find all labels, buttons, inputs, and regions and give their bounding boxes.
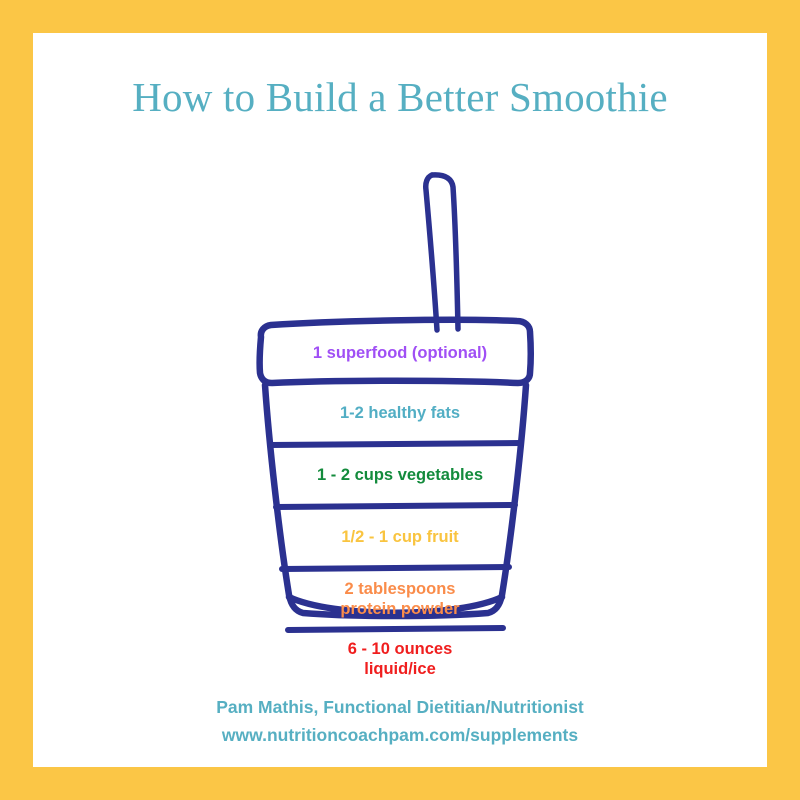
smoothie-cup-diagram: 1 superfood (optional) 1-2 healthy fats … (33, 133, 767, 653)
straw-icon (426, 175, 458, 330)
label-line: 1 superfood (optional) (230, 343, 570, 363)
page-title: How to Build a Better Smoothie (33, 73, 767, 121)
label-line: liquid/ice (230, 659, 570, 679)
cup-layer-label-protein: 2 tablespoons protein powder (230, 579, 570, 619)
footer-author: Pam Mathis, Functional Dietitian/Nutriti… (33, 693, 767, 721)
poster-frame: How to Build a Better Smoothie (0, 0, 800, 800)
label-line: protein powder (230, 599, 570, 619)
cup-layer-label-vegetables: 1 - 2 cups vegetables (230, 465, 570, 485)
cup-layer-label-superfood: 1 superfood (optional) (230, 343, 570, 363)
label-line: 2 tablespoons (230, 579, 570, 599)
label-line: 1 - 2 cups vegetables (230, 465, 570, 485)
label-line: 1/2 - 1 cup fruit (230, 527, 570, 547)
label-line: 1-2 healthy fats (230, 403, 570, 423)
cup-layer-label-fruit: 1/2 - 1 cup fruit (230, 527, 570, 547)
footer-website[interactable]: www.nutritioncoachpam.com/supplements (33, 721, 767, 749)
footer-credit: Pam Mathis, Functional Dietitian/Nutriti… (33, 693, 767, 750)
cup-layer-label-healthy-fats: 1-2 healthy fats (230, 403, 570, 423)
cup-layer-label-liquid: 6 - 10 ounces liquid/ice (230, 639, 570, 679)
cup-outline-svg (33, 133, 767, 653)
poster-canvas: How to Build a Better Smoothie (33, 33, 767, 767)
label-line: 6 - 10 ounces (230, 639, 570, 659)
